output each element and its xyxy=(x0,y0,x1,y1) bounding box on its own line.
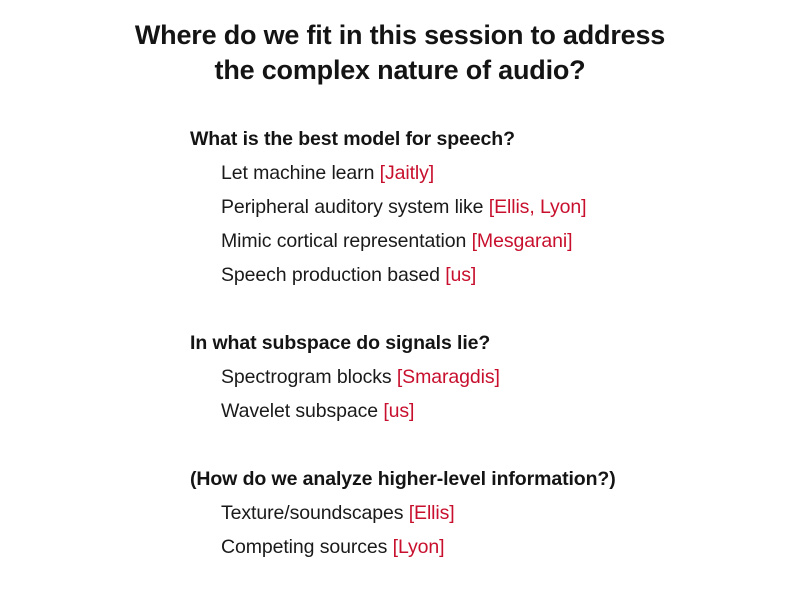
list-item: Competing sources [Lyon] xyxy=(190,530,770,564)
citation-reference: [us] xyxy=(445,264,476,286)
list-item-label: Let machine learn xyxy=(221,162,374,184)
list-item: Let machine learn [Jaitly] xyxy=(190,156,770,190)
list-item-label: Competing sources xyxy=(221,536,387,558)
list-item: Wavelet subspace [us] xyxy=(190,394,770,428)
list-item: Spectrogram blocks [Smaragdis] xyxy=(190,360,770,394)
list-item-label: Texture/soundscapes xyxy=(221,502,403,524)
section-subspace: In what subspace do signals lie? Spectro… xyxy=(190,326,770,428)
slide-body: What is the best model for speech? Let m… xyxy=(190,122,770,564)
list-item: Speech production based [us] xyxy=(190,258,770,292)
citation-reference: [Smaragdis] xyxy=(397,366,500,388)
section-best-model: What is the best model for speech? Let m… xyxy=(190,122,770,292)
section-heading: In what subspace do signals lie? xyxy=(190,326,770,360)
list-item-label: Speech production based xyxy=(221,264,440,286)
citation-reference: [Ellis, Lyon] xyxy=(489,196,587,218)
bullet-list: Let machine learn [Jaitly] Peripheral au… xyxy=(190,156,770,292)
list-item-label: Peripheral auditory system like xyxy=(221,196,483,218)
slide-title: Where do we fit in this session to addre… xyxy=(60,18,740,88)
citation-reference: [Lyon] xyxy=(393,536,445,558)
citation-reference: [Ellis] xyxy=(409,502,455,524)
list-item: Peripheral auditory system like [Ellis, … xyxy=(190,190,770,224)
citation-reference: [Jaitly] xyxy=(380,162,434,184)
section-heading: What is the best model for speech? xyxy=(190,122,770,156)
section-higher-level: (How do we analyze higher-level informat… xyxy=(190,462,770,564)
section-heading: (How do we analyze higher-level informat… xyxy=(190,462,770,496)
slide-canvas: Where do we fit in this session to addre… xyxy=(0,0,800,599)
list-item-label: Spectrogram blocks xyxy=(221,366,392,388)
slide-title-line-2: the complex nature of audio? xyxy=(60,53,740,88)
list-item-label: Wavelet subspace xyxy=(221,400,378,422)
bullet-list: Texture/soundscapes [Ellis] Competing so… xyxy=(190,496,770,564)
list-item-label: Mimic cortical representation xyxy=(221,230,466,252)
slide-title-line-1: Where do we fit in this session to addre… xyxy=(60,18,740,53)
list-item: Mimic cortical representation [Mesgarani… xyxy=(190,224,770,258)
citation-reference: [Mesgarani] xyxy=(472,230,573,252)
list-item: Texture/soundscapes [Ellis] xyxy=(190,496,770,530)
bullet-list: Spectrogram blocks [Smaragdis] Wavelet s… xyxy=(190,360,770,428)
citation-reference: [us] xyxy=(383,400,414,422)
